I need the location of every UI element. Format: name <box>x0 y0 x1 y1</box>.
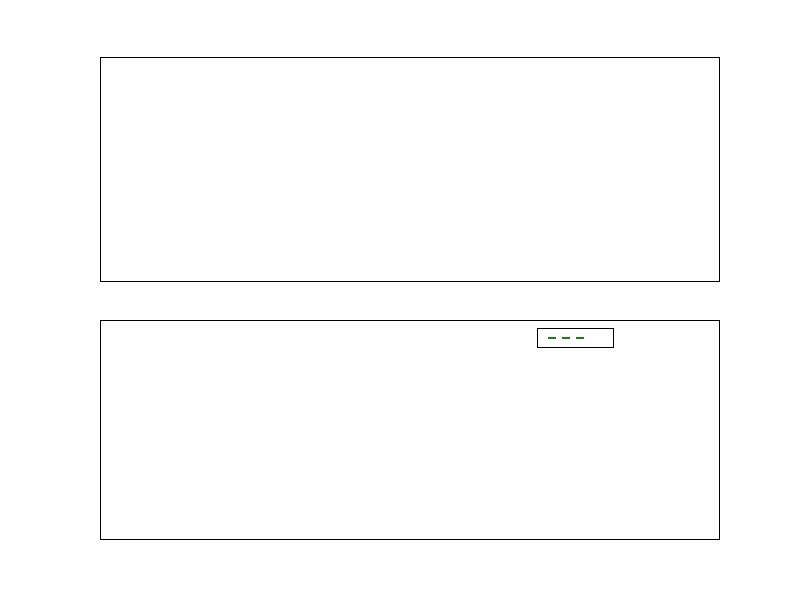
figure-canvas <box>0 0 800 600</box>
legend <box>537 328 614 348</box>
cumulative-histogram-plot <box>101 321 719 539</box>
mag-limit-line-icon <box>547 337 589 339</box>
differential-histogram-plot <box>101 58 719 281</box>
top-panel-axes <box>100 57 720 282</box>
bottom-panel-axes <box>100 320 720 540</box>
